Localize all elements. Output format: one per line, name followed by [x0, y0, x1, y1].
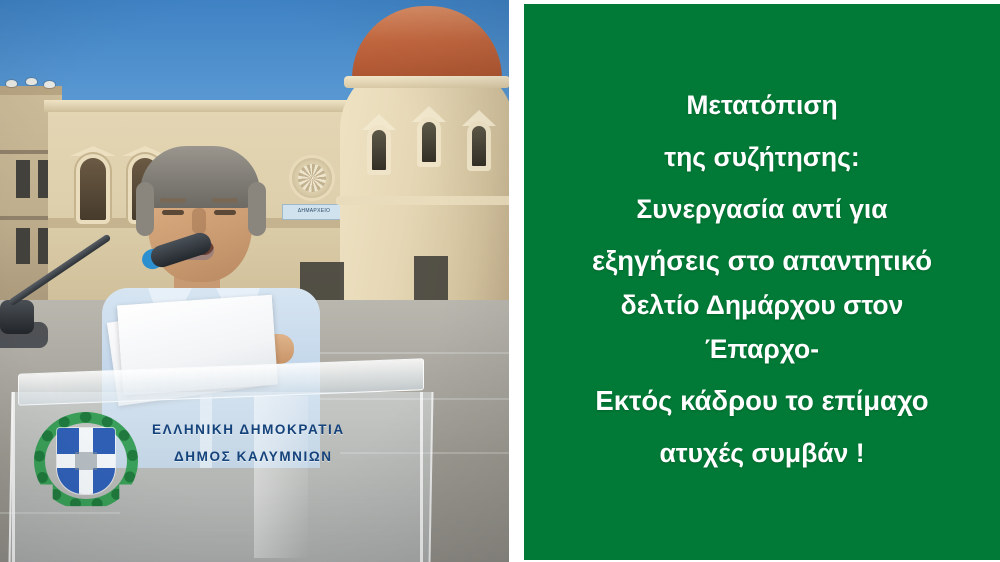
- hair-side: [248, 182, 266, 236]
- headline-line-2: της συζήτησης:: [664, 143, 859, 173]
- headline-line-4: εξηγήσεις στο απαντητικό: [592, 246, 932, 277]
- headline-line-7: Εκτός κάδρου το επίμαχο: [595, 386, 928, 417]
- headline-line-3: Συνεργασία αντί για: [636, 195, 887, 225]
- hellenic-republic-emblem-icon: [34, 412, 138, 510]
- headline-line-6: Έπαρχο-: [705, 335, 819, 365]
- nose: [192, 208, 206, 234]
- eye-closed: [162, 210, 184, 215]
- tower-window: [472, 126, 486, 166]
- rooftop-antenna-icon: [44, 81, 55, 88]
- window: [16, 160, 30, 198]
- eye-closed: [214, 210, 236, 215]
- headline-line-5: δελτίο Δημάρχου στον: [621, 291, 904, 321]
- press-conference-photo: ΔΗΜΑΡΧΕΙΟ: [0, 0, 509, 562]
- microphone-base: [0, 300, 34, 334]
- acrylic-podium: ΕΛΛΗΝΙΚΗ ΔΗΜΟΚΡΑΤΙΑ ΔΗΜΟΣ ΚΑΛΥΜΝΙΩΝ: [4, 366, 434, 562]
- headline-line-8: ατυχές συμβάν !: [659, 439, 864, 469]
- podium-sign-line2: ΔΗΜΟΣ ΚΑΛΥΜΝΙΩΝ: [174, 449, 402, 464]
- tower-window: [372, 130, 386, 170]
- rooftop-antenna-icon: [26, 78, 37, 85]
- podium-sign-line1: ΕΛΛΗΝΙΚΗ ΔΗΜΟΚΡΑΤΙΑ: [152, 422, 402, 437]
- shield-glare: [75, 452, 97, 470]
- composite-card: ΔΗΜΑΡΧΕΙΟ: [0, 0, 1000, 562]
- greek-flag-shield-icon: [57, 428, 115, 494]
- tower-ledge: [336, 196, 509, 205]
- photo-pane: ΔΗΜΑΡΧΕΙΟ: [0, 0, 509, 562]
- headline-line-1: Μετατόπιση: [686, 91, 837, 121]
- podium-right-edge: [420, 392, 423, 562]
- pavement-line: [300, 352, 509, 354]
- hair-side: [136, 182, 154, 236]
- eyebrow: [160, 198, 186, 203]
- hair: [140, 146, 260, 208]
- eyebrow: [212, 198, 238, 203]
- window: [16, 228, 30, 264]
- dome-base-ring: [344, 76, 509, 88]
- headline-panel: Μετατόπιση της συζήτησης: Συνεργασία αντ…: [524, 4, 1000, 560]
- rooftop-antenna-icon: [6, 80, 17, 87]
- podium-left-edge: [12, 392, 15, 562]
- podium-glare: [254, 396, 308, 558]
- panel-divider: [509, 0, 524, 562]
- podium-sign: ΕΛΛΗΝΙΚΗ ΔΗΜΟΚΡΑΤΙΑ ΔΗΜΟΣ ΚΑΛΥΜΝΙΩΝ: [152, 422, 402, 464]
- green-panel-wrapper: Μετατόπιση της συζήτησης: Συνεργασία αντ…: [524, 0, 1000, 562]
- tower-window: [422, 122, 436, 162]
